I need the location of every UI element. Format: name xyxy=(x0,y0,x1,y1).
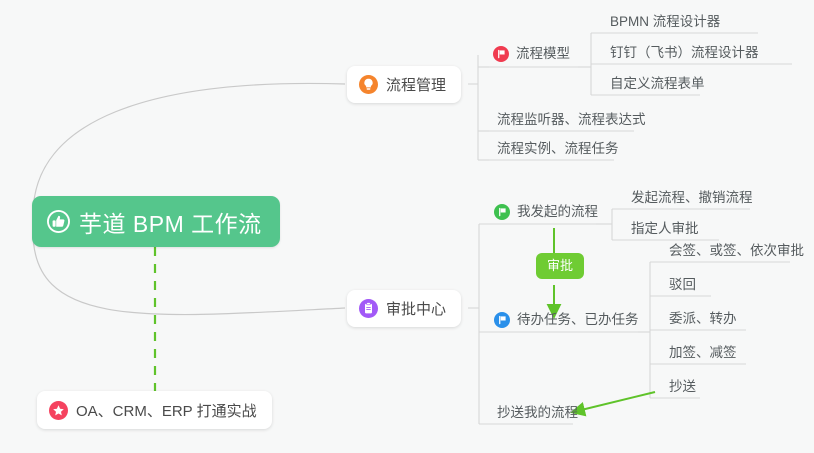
branch-node-process-management[interactable]: 流程管理 xyxy=(347,66,461,103)
leaf-bpmn-designer[interactable]: BPMN 流程设计器 xyxy=(602,12,728,35)
leaf-countersign[interactable]: 会签、或签、依次审批 xyxy=(661,241,812,264)
leaf-delegate-transfer[interactable]: 委派、转办 xyxy=(661,309,745,332)
clipboard-icon xyxy=(359,299,378,318)
flag-icon xyxy=(494,312,510,328)
branch-label-approval-center: 审批中心 xyxy=(386,298,446,319)
leaf-start-cancel-flow[interactable]: 发起流程、撤销流程 xyxy=(623,188,761,211)
flag-icon xyxy=(494,204,510,220)
bottom-note-node[interactable]: OA、CRM、ERP 打通实战 xyxy=(37,391,272,429)
star-icon xyxy=(49,401,68,420)
branch-label-process-management: 流程管理 xyxy=(386,74,446,95)
branch-node-approval-center[interactable]: 审批中心 xyxy=(347,290,461,327)
leaf-label-todo-done-tasks: 待办任务、已办任务 xyxy=(517,310,639,329)
thumbs-up-icon xyxy=(47,210,70,233)
approve-badge: 审批 xyxy=(536,253,584,279)
leaf-label-process-model: 流程模型 xyxy=(516,44,570,63)
leaf-assignee-approval[interactable]: 指定人审批 xyxy=(623,219,707,242)
leaf-label-my-started-flow: 我发起的流程 xyxy=(517,202,598,221)
leaf-dingtalk-designer[interactable]: 钉钉（飞书）流程设计器 xyxy=(602,43,767,66)
leaf-process-model[interactable]: 流程模型 xyxy=(489,44,578,67)
leaf-custom-form[interactable]: 自定义流程表单 xyxy=(602,74,713,97)
mindmap-canvas: 芋道 BPM 工作流 流程管理 审批中心 xyxy=(0,0,814,453)
leaf-my-started-flow[interactable]: 我发起的流程 xyxy=(490,202,606,225)
root-node[interactable]: 芋道 BPM 工作流 xyxy=(32,196,280,247)
root-label: 芋道 BPM 工作流 xyxy=(79,205,262,239)
bottom-note-label: OA、CRM、ERP 打通实战 xyxy=(76,400,257,421)
leaf-cc[interactable]: 抄送 xyxy=(661,377,704,400)
leaf-add-remove-sign[interactable]: 加签、减签 xyxy=(661,343,745,366)
leaf-process-listener[interactable]: 流程监听器、流程表达式 xyxy=(489,110,654,133)
leaf-reject[interactable]: 驳回 xyxy=(661,275,704,298)
leaf-cc-my-flow[interactable]: 抄送我的流程 xyxy=(489,403,586,426)
leaf-todo-done-tasks[interactable]: 待办任务、已办任务 xyxy=(490,310,647,333)
lightbulb-icon xyxy=(359,75,378,94)
leaf-process-instance[interactable]: 流程实例、流程任务 xyxy=(489,139,627,162)
flag-icon xyxy=(493,46,509,62)
